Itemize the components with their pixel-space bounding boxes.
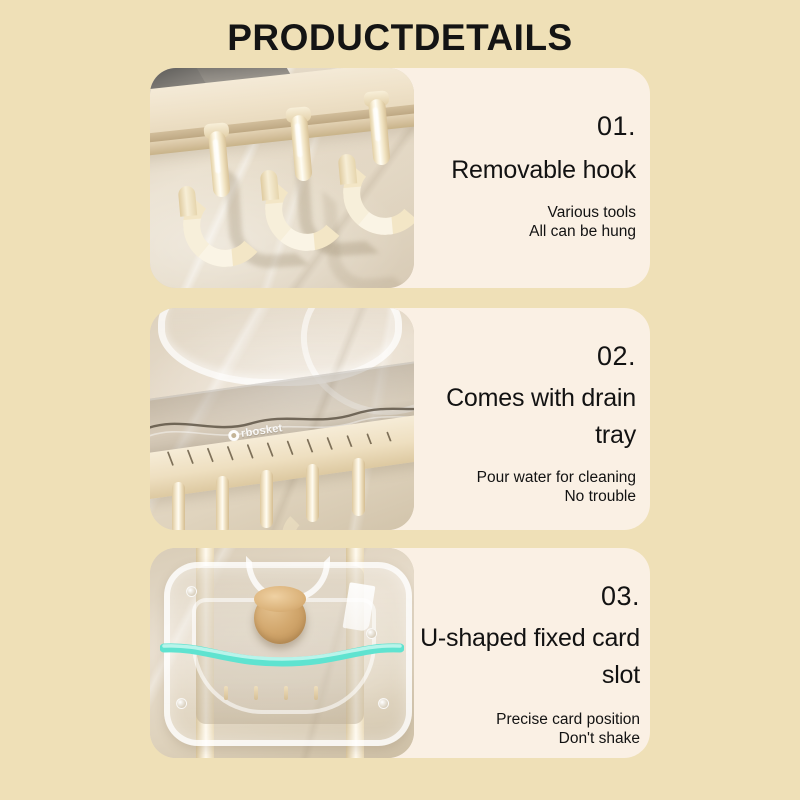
mounting-screw <box>176 698 187 709</box>
u-shaped-slot-highlight <box>160 634 404 674</box>
card-headline: Removable hook <box>422 152 636 189</box>
card-number: 01. <box>422 110 636 142</box>
card-text-block: 01. Removable hook Various tools All can… <box>422 68 636 330</box>
feature-card-2: rbosket 02. Comes with drain tray Pour w… <box>150 308 650 530</box>
hook-tip <box>178 185 198 216</box>
card-subtext-line: Pour water for cleaning <box>422 468 636 487</box>
drain-prong <box>314 686 318 700</box>
photo-u-shaped-card-slot <box>150 548 414 758</box>
product-details-page: PRODUCTDETAILS <box>0 0 800 800</box>
hook-stem-group <box>150 468 414 530</box>
hook-tip <box>338 153 358 184</box>
drain-prong-group <box>220 686 340 702</box>
mounting-screw <box>378 698 389 709</box>
drain-prong <box>284 686 288 700</box>
card-number: 02. <box>422 340 636 372</box>
card-number: 03. <box>394 580 640 612</box>
mounting-screw <box>366 628 377 639</box>
hook-stem <box>216 476 229 530</box>
photo-removable-hooks <box>150 68 414 288</box>
card-headline: Comes with drain tray <box>422 380 636 454</box>
drain-prong <box>224 686 228 700</box>
hook-tip <box>260 169 280 200</box>
card-subtext-line: Various tools <box>422 203 636 222</box>
feature-card-3: 03. U-shaped fixed card slot Precise car… <box>150 548 650 758</box>
card-subtext: Pour water for cleaning No trouble <box>422 468 636 506</box>
card-subtext: Various tools All can be hung <box>422 203 636 241</box>
card-subtext-line: Precise card position <box>394 710 640 729</box>
brand-mark-icon <box>228 429 240 441</box>
card-subtext-line: Don't shake <box>394 729 640 748</box>
card-text-block: 02. Comes with drain tray Pour water for… <box>422 308 636 562</box>
hook-curve <box>150 514 204 530</box>
hook-curve <box>282 508 338 530</box>
drain-prong <box>254 686 258 700</box>
hook-stem <box>352 458 365 516</box>
card-subtext-line: No trouble <box>422 487 636 506</box>
card-subtext-line: All can be hung <box>422 222 636 241</box>
photo-drain-tray: rbosket <box>150 308 414 530</box>
card-headline: U-shaped fixed card slot <box>394 620 640 694</box>
feature-card-1: 01. Removable hook Various tools All can… <box>150 68 650 288</box>
card-text-block: 03. U-shaped fixed card slot Precise car… <box>394 548 640 790</box>
wooden-knob-top <box>254 586 306 612</box>
page-title: PRODUCTDETAILS <box>0 16 800 60</box>
hook-stem <box>260 470 273 528</box>
mounting-screw <box>186 586 197 597</box>
card-subtext: Precise card position Don't shake <box>394 710 640 748</box>
